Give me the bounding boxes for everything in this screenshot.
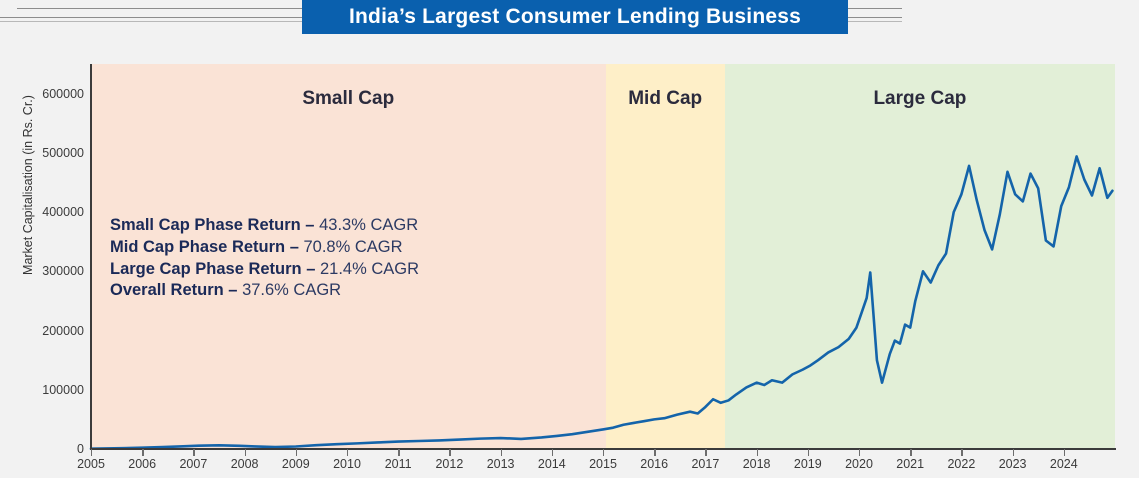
x-tick-mark bbox=[808, 449, 809, 456]
x-tick-mark bbox=[859, 449, 860, 456]
annotation-value: 43.3% CAGR bbox=[319, 216, 418, 234]
returns-annotation: Small Cap Phase Return – 43.3% CAGR Mid … bbox=[110, 215, 419, 302]
annotation-label: Large Cap Phase Return – bbox=[110, 260, 315, 278]
y-axis-tick-labels: 0100000200000300000400000500000600000 bbox=[0, 0, 84, 478]
annotation-line: Overall Return – 37.6% CAGR bbox=[110, 280, 419, 302]
x-tick-mark bbox=[398, 449, 399, 456]
annotation-line: Mid Cap Phase Return – 70.8% CAGR bbox=[110, 237, 419, 259]
x-tick-mark bbox=[603, 449, 604, 456]
x-tick-mark bbox=[961, 449, 962, 456]
y-tick-label: 100000 bbox=[6, 383, 84, 397]
y-tick-label: 300000 bbox=[6, 264, 84, 278]
title-banner: India’s Largest Consumer Lending Busines… bbox=[302, 0, 848, 34]
y-axis-line bbox=[90, 64, 92, 449]
x-tick-mark bbox=[501, 449, 502, 456]
y-tick-label: 400000 bbox=[6, 205, 84, 219]
x-tick-mark bbox=[552, 449, 553, 456]
x-tick-mark bbox=[910, 449, 911, 456]
y-tick-label: 600000 bbox=[6, 87, 84, 101]
x-tick-mark bbox=[347, 449, 348, 456]
x-tick-mark bbox=[193, 449, 194, 456]
x-tick-mark bbox=[142, 449, 143, 456]
x-tick-mark bbox=[449, 449, 450, 456]
x-tick-label: 2024 bbox=[1034, 457, 1094, 471]
chart-canvas: India’s Largest Consumer Lending Busines… bbox=[0, 0, 1139, 478]
annotation-line: Small Cap Phase Return – 43.3% CAGR bbox=[110, 215, 419, 237]
y-tick-label: 500000 bbox=[6, 146, 84, 160]
series-market-capitalisation bbox=[91, 156, 1112, 448]
annotation-value: 21.4% CAGR bbox=[320, 260, 419, 278]
annotation-value: 70.8% CAGR bbox=[303, 238, 402, 256]
annotation-label: Small Cap Phase Return – bbox=[110, 216, 315, 234]
page-title: India’s Largest Consumer Lending Busines… bbox=[349, 5, 801, 29]
annotation-value: 37.6% CAGR bbox=[242, 281, 341, 299]
y-tick-label: 0 bbox=[6, 442, 84, 456]
annotation-label: Overall Return – bbox=[110, 281, 237, 299]
x-tick-mark bbox=[757, 449, 758, 456]
x-tick-mark bbox=[1064, 449, 1065, 456]
x-tick-mark bbox=[705, 449, 706, 456]
annotation-label: Mid Cap Phase Return – bbox=[110, 238, 299, 256]
x-tick-mark bbox=[245, 449, 246, 456]
x-tick-mark bbox=[91, 449, 92, 456]
x-tick-mark bbox=[654, 449, 655, 456]
y-tick-label: 200000 bbox=[6, 324, 84, 338]
annotation-line: Large Cap Phase Return – 21.4% CAGR bbox=[110, 259, 419, 281]
x-tick-mark bbox=[296, 449, 297, 456]
x-tick-mark bbox=[1013, 449, 1014, 456]
